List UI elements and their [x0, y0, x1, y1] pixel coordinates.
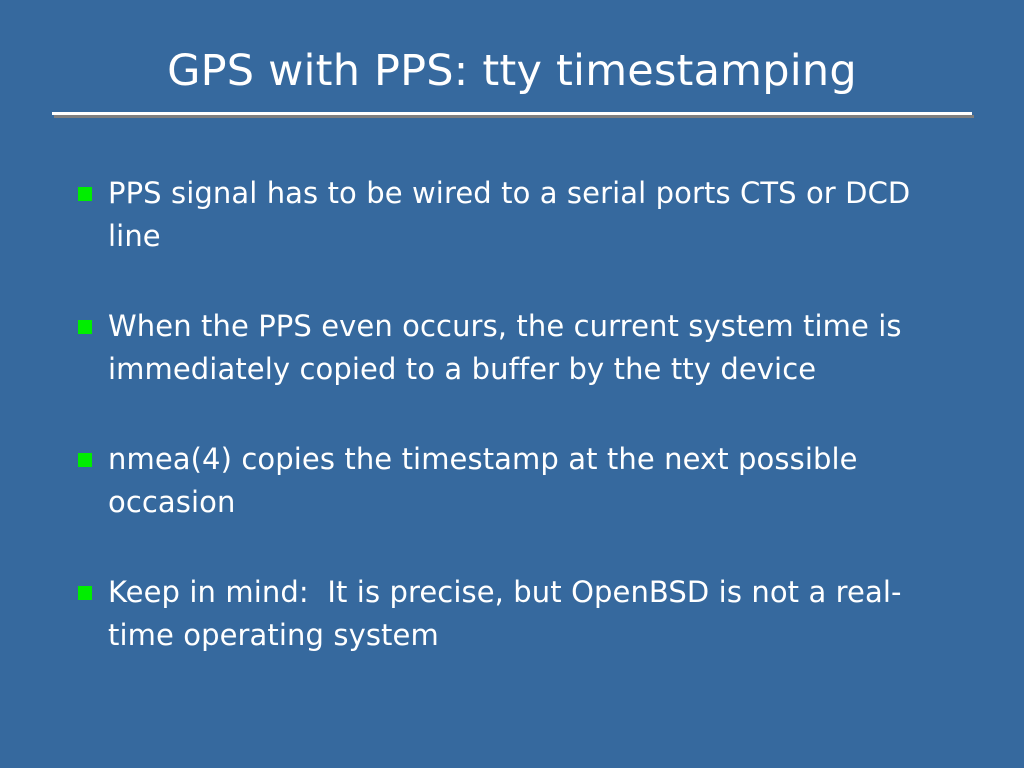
list-item-label: Keep in mind: It is precise, but OpenBSD…	[108, 571, 958, 657]
list-item-label: nmea(4) copies the timestamp at the next…	[108, 438, 958, 524]
square-bullet-icon	[78, 320, 92, 334]
title-divider-shadow	[54, 115, 974, 118]
list-item-label: When the PPS even occurs, the current sy…	[108, 305, 958, 391]
presentation-slide: GPS with PPS: tty timestamping PPS signa…	[0, 0, 1024, 768]
list-item: When the PPS even occurs, the current sy…	[78, 305, 958, 391]
square-bullet-icon	[78, 187, 92, 201]
page-title: GPS with PPS: tty timestamping	[0, 46, 1024, 96]
square-bullet-icon	[78, 453, 92, 467]
list-item-label: PPS signal has to be wired to a serial p…	[108, 172, 958, 258]
slide-title-block: GPS with PPS: tty timestamping	[0, 46, 1024, 96]
list-item: nmea(4) copies the timestamp at the next…	[78, 438, 958, 524]
title-divider-line	[52, 112, 972, 115]
list-item: Keep in mind: It is precise, but OpenBSD…	[78, 571, 958, 657]
list-item: PPS signal has to be wired to a serial p…	[78, 172, 958, 258]
square-bullet-icon	[78, 586, 92, 600]
title-divider	[52, 112, 972, 118]
bullet-list: PPS signal has to be wired to a serial p…	[78, 172, 958, 657]
